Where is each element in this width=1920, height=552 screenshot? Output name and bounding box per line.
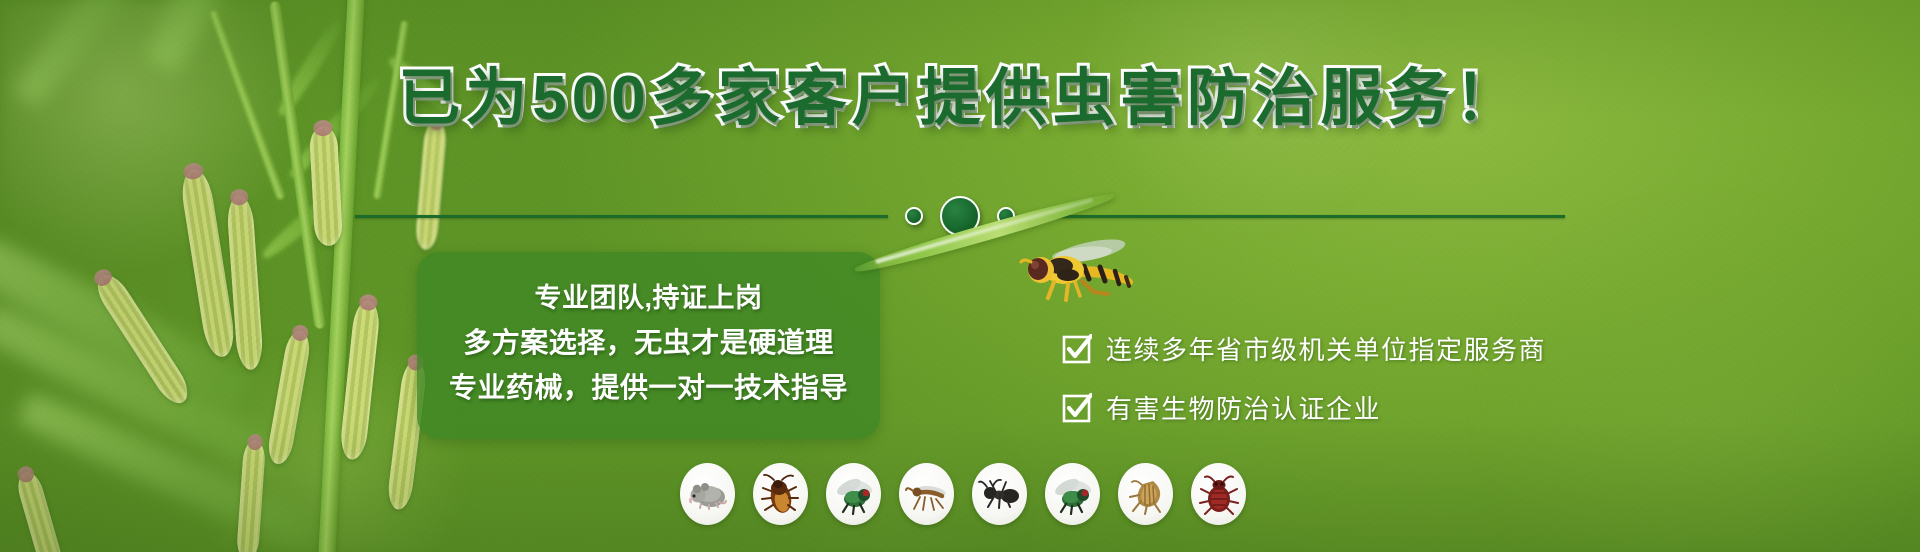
- checklist-item: 连续多年省市级机关单位指定服务商: [1062, 330, 1546, 367]
- bedbug-icon[interactable]: [1191, 463, 1246, 525]
- slogan-panel: 专业团队,持证上岗 多方案选择，无虫才是硬道理 专业药械，提供一对一技术指导: [417, 252, 880, 439]
- divider-rule-right: [1032, 215, 1565, 218]
- slogan-line-3: 专业药械，提供一对一技术指导: [449, 370, 848, 405]
- checklist-item-label: 连续多年省市级机关单位指定服务商: [1106, 330, 1546, 367]
- mosquito-icon[interactable]: [899, 463, 954, 525]
- checklist-item: 有害生物防治认证企业: [1062, 389, 1546, 426]
- flea-icon[interactable]: [1118, 463, 1173, 525]
- certification-checklist: 连续多年省市级机关单位指定服务商 有害生物防治认证企业: [1062, 330, 1546, 426]
- checkbox-check-icon: [1062, 334, 1092, 364]
- pest-icon-row: [680, 463, 1246, 525]
- slogan-line-1: 专业团队,持证上岗: [534, 282, 762, 316]
- checklist-item-label: 有害生物防治认证企业: [1106, 389, 1381, 426]
- checkbox-check-icon: [1062, 393, 1092, 423]
- banner-headline: 已为500多家客户提供虫害防治服务！: [0, 68, 1920, 130]
- fly-icon[interactable]: [826, 463, 881, 525]
- blowfly-icon[interactable]: [1045, 463, 1100, 525]
- cockroach-icon[interactable]: [753, 463, 808, 525]
- pest-control-banner: 已为500多家客户提供虫害防治服务！ 专业团队,持证上岗 多方案选择，无虫才是硬…: [0, 0, 1920, 552]
- slogan-line-2: 多方案选择，无虫才是硬道理: [463, 325, 834, 360]
- decorative-divider: [355, 200, 1565, 232]
- mouse-icon[interactable]: [680, 463, 735, 525]
- banner-headline-text: 已为500多家客户提供虫害防治服务！: [398, 64, 1521, 133]
- hoverfly-icon: [1012, 234, 1162, 306]
- ant-icon[interactable]: [972, 463, 1027, 525]
- divider-dot-small-left: [905, 207, 923, 225]
- divider-rule-left: [355, 215, 888, 218]
